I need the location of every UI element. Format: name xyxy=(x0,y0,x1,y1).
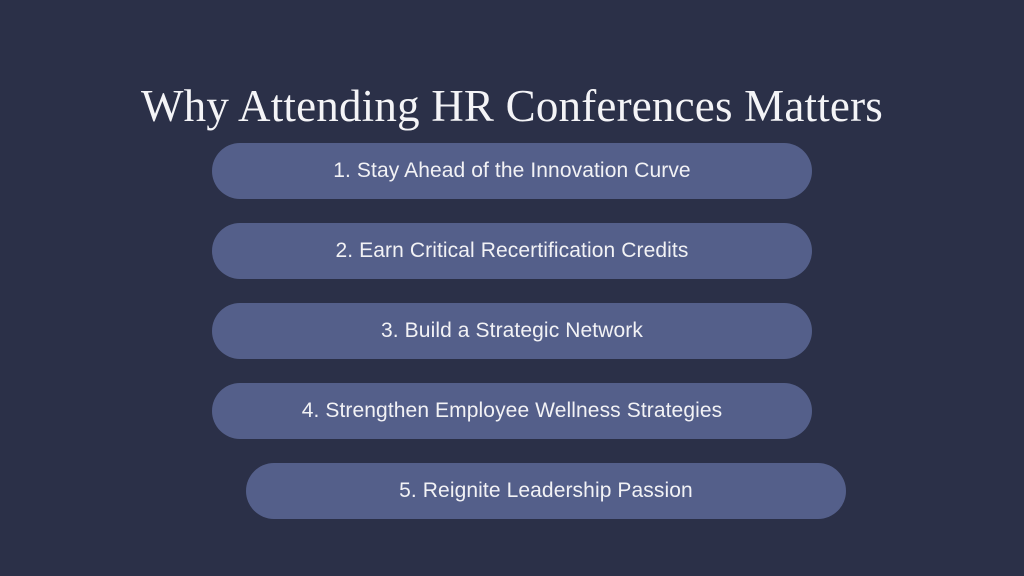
list-item[interactable]: 4. Strengthen Employee Wellness Strategi… xyxy=(212,383,812,439)
presentation-slide: Why Attending HR Conferences Matters 1. … xyxy=(0,0,1024,576)
list-item[interactable]: 5. Reignite Leadership Passion xyxy=(246,463,846,519)
benefits-list: 1. Stay Ahead of the Innovation Curve 2.… xyxy=(0,143,1024,519)
list-item-label: 3. Build a Strategic Network xyxy=(381,318,643,344)
list-item[interactable]: 2. Earn Critical Recertification Credits xyxy=(212,223,812,279)
list-item-label: 5. Reignite Leadership Passion xyxy=(399,478,693,504)
list-item-label: 2. Earn Critical Recertification Credits xyxy=(336,238,689,264)
list-item[interactable]: 3. Build a Strategic Network xyxy=(212,303,812,359)
list-item-label: 1. Stay Ahead of the Innovation Curve xyxy=(333,158,690,184)
page-title: Why Attending HR Conferences Matters xyxy=(0,78,1024,134)
list-item-label: 4. Strengthen Employee Wellness Strategi… xyxy=(302,398,723,424)
list-item[interactable]: 1. Stay Ahead of the Innovation Curve xyxy=(212,143,812,199)
